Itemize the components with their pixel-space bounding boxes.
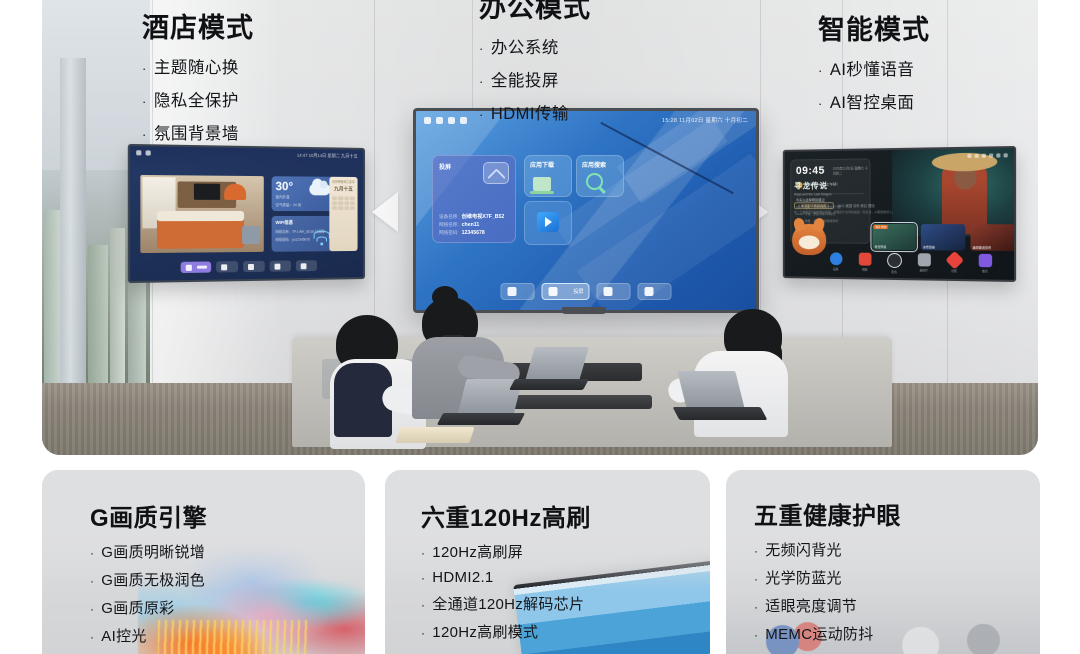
caption-hotel-mode: 酒店模式 ·主题随心换 ·隐私全保护 ·氛围背景墙: [142, 6, 254, 144]
wifi-card-title: WIFI信息: [276, 220, 332, 226]
hotel-status-time: 14:47 10月14日 星期二 九月十五: [297, 153, 358, 160]
hotel-status-icons: [136, 150, 151, 155]
weather-card[interactable]: 30° 室内外温 空气质量：24 优: [272, 176, 335, 211]
cast-connection-info: 设备名称: 创维电视X7F_B52 网络名称: chen11 网络密码: 123…: [439, 211, 504, 236]
hotel-mode-tv: 14:47 10月14日 星期二 九月十五 30° 室内外温 空气质量：24 优: [128, 144, 365, 283]
list-item-label: 光学防蓝光: [765, 567, 842, 588]
app-item[interactable]: 应用: [828, 252, 843, 273]
app-icon: [978, 254, 991, 267]
feature-card-title: 五重健康护眼: [754, 496, 1030, 531]
bullet-mark: ·: [754, 573, 758, 585]
bullet-mark: ·: [818, 97, 823, 110]
gear-icon: [448, 117, 455, 124]
input-source-icon: [604, 287, 613, 296]
office-nav-bar[interactable]: 投屏: [501, 283, 672, 300]
app-label: 应用: [828, 267, 843, 271]
app-label: 影音: [886, 270, 902, 274]
cast-icon: [483, 162, 509, 184]
feature-card-refresh-rate: 六重120Hz高刷 ·120Hz高刷屏 ·HDMI2.1 ·全通道120Hz解码…: [385, 470, 710, 654]
app-item[interactable]: 视频: [857, 253, 873, 274]
wifi-info-card[interactable]: WIFI信息 网络名称：TP-LINK_8D18 已连接 网络密码：yu1234…: [272, 216, 335, 252]
cast-device-value: 创维电视X7F_B52: [462, 213, 505, 220]
schedule-row: 18:00 / 晚餐，品鉴美味的健康食材: [796, 219, 865, 223]
app-item[interactable]: 我的片: [916, 253, 932, 274]
bullet-mark: ·: [90, 575, 94, 587]
movie-meta: 《 电视剧评情感细腻 》 2021 美国 动作 奇幻 冒险: [794, 202, 875, 209]
download-icon: [533, 177, 551, 191]
list-item-label: AI秒懂语音: [830, 56, 915, 80]
list-item: ·G画质原彩: [90, 597, 355, 618]
hotel-screen: 14:47 10月14日 星期二 九月十五 30° 室内外温 空气质量：24 优: [130, 146, 363, 281]
tile-app-download[interactable]: 应用下载: [524, 155, 572, 197]
bullet-mark: ·: [479, 108, 484, 121]
list-item-label: AI控光: [101, 625, 146, 646]
list-item-label: 无频闪背光: [765, 539, 842, 560]
product-feature-page: 14:47 10月14日 星期二 九月十五 30° 室内外温 空气质量：24 优: [0, 0, 1080, 654]
app-icon: [887, 253, 902, 268]
app-label: 视频: [857, 267, 873, 271]
laptop-base: [673, 407, 768, 420]
feature-card-content: 六重120Hz高刷 ·120Hz高刷屏 ·HDMI2.1 ·全通道120Hz解码…: [421, 498, 700, 642]
office-mode-tv: 15:28 11月02日 星期六 十月初二 投屏 设备名称: 创维电视X7F_B…: [413, 108, 759, 313]
list-item-label: HDMI2.1: [432, 569, 493, 586]
list-item-label: 120Hz高刷模式: [432, 621, 538, 642]
room-tv: [194, 184, 220, 200]
list-item-label: 隐私全保护: [154, 87, 239, 111]
list-item: ·光学防蓝光: [754, 567, 1030, 588]
list-item: ·适眼亮度调节: [754, 595, 1030, 616]
nav-hotel-settings[interactable]: [243, 261, 265, 272]
fox-face: [799, 235, 820, 249]
cast-icon: [982, 154, 986, 158]
bullet-mark: ·: [421, 599, 425, 611]
nav-hotel-music[interactable]: [270, 261, 291, 272]
cast-password-label: 网络密码:: [439, 230, 459, 236]
feature-card-row: G画质引擎 ·G画质明晰锐增 ·G画质无极润色 ·G画质原彩 ·AI控光 六重1…: [0, 470, 1080, 654]
bullet-mark: ·: [754, 629, 758, 641]
feature-bullet-list: ·无频闪背光 ·光学防蓝光 ·适眼亮度调节 ·MEMC运动防抖 ·护眼模式: [754, 539, 1030, 654]
list-item-label: 全通道120Hz解码芯片: [432, 593, 584, 614]
bullet-mark: ·: [421, 547, 425, 559]
gear-icon: [989, 154, 993, 158]
list-item: ·隐私全保护: [142, 87, 254, 111]
office-status-time: 15:28 11月02日 星期六 十月初二: [662, 116, 748, 124]
list-item-label: G画质无极润色: [101, 569, 205, 590]
wifi-icon: [136, 150, 141, 155]
weather-city: 室内外温: [276, 195, 332, 200]
subtitle-icon: [645, 287, 654, 296]
movie-thumbnail[interactable]: 冰雪奇缘: [921, 224, 966, 251]
roof-graphic: [130, 146, 363, 175]
list-item-label: MEMC运动防抖: [765, 623, 873, 644]
list-item: ·办公系统: [479, 34, 591, 58]
thumbnail-label: 冰雪奇缘: [923, 245, 935, 249]
nav-cast-button[interactable]: 投屏: [542, 283, 590, 300]
caption-smart-mode: 智能模式 ·AI秒懂语音 ·AI智控桌面: [818, 8, 930, 113]
office-status-icons: [424, 117, 467, 124]
cast-password-value: 12345678: [462, 230, 485, 236]
feature-bullet-list: ·G画质明晰锐增 ·G画质无极润色 ·G画质原彩 ·AI控光: [90, 541, 355, 646]
app-icon: [945, 251, 964, 270]
cloud-icon: [309, 183, 330, 195]
gear-icon: [146, 150, 151, 155]
thumbnail-label: 寻龙传说: [874, 245, 886, 249]
office-screen: 15:28 11月02日 星期六 十月初二 投屏 设备名称: 创维电视X7F_B…: [416, 111, 756, 310]
list-item-label: AI智控桌面: [830, 89, 915, 113]
weather-air-quality: 空气质量：24 优: [276, 203, 332, 208]
app-item[interactable]: 社区: [946, 253, 962, 275]
list-item: ·AI智控桌面: [818, 89, 930, 113]
tile-app-download-label: 应用下载: [530, 160, 554, 169]
nav-hotel-home[interactable]: [181, 261, 211, 273]
list-item: ·G画质无极润色: [90, 569, 355, 590]
app-icon: [858, 253, 871, 266]
list-item-label: 120Hz高刷屏: [432, 541, 523, 562]
list-item: ·AI秒懂语音: [818, 56, 930, 80]
feature-card-eye-care: 五重健康护眼 ·无频闪背光 ·光学防蓝光 ·适眼亮度调节 ·MEMC运动防抖 ·…: [726, 470, 1040, 654]
bullet-mark: ·: [421, 572, 425, 584]
fox-mascot-icon: [792, 224, 826, 256]
movie-description: 在一个被恶灵分裂的奇幻世界，勇敢的少女寻找最后一条巨龙，以期拯救世人。: [794, 210, 900, 215]
wifi-icon: [314, 235, 329, 246]
nav-hotel-apps[interactable]: [296, 260, 317, 271]
movie-meta-text: 2021 美国 动作 奇幻 冒险: [837, 203, 874, 208]
list-item: ·120Hz高刷屏: [421, 541, 700, 562]
smart-status-icons: [967, 153, 1007, 158]
list-item-label: 办公系统: [491, 34, 559, 58]
bluetooth-icon: [424, 117, 431, 124]
list-item: ·HDMI2.1: [421, 569, 700, 586]
list-item-label: G画质明晰锐增: [101, 541, 205, 562]
wifi-icon: [436, 117, 443, 124]
lamp-icon: [224, 184, 246, 200]
smart-app-dock[interactable]: 应用 视频 影音 我的片 社区 教育: [828, 252, 993, 275]
wifi-icon: [996, 153, 1000, 157]
hotel-room-photo: [140, 175, 263, 253]
movie-tag: 《 电视剧评情感细腻 》: [794, 202, 834, 209]
app-label: 教育: [977, 269, 994, 273]
bullet-mark: ·: [818, 64, 823, 77]
bullet-mark: ·: [754, 601, 758, 613]
laptop: [676, 371, 770, 421]
list-item-label: 全能投屏: [491, 67, 559, 91]
laptop-base: [437, 413, 525, 425]
movie-thumbnail-row[interactable]: 独家 热映 寻龙传说 冰雪奇缘 美丽童话世界: [872, 224, 1016, 251]
list-item-label: G画质原彩: [101, 597, 174, 618]
movie-subtitle: Raya and the Last Dragon: [794, 192, 831, 196]
movie-title: 寻龙传说: [794, 181, 828, 192]
laptop-lid: [677, 371, 744, 409]
movie-thumbnail[interactable]: 美丽童话世界: [970, 224, 1016, 251]
cast-wifi-label: 网络名称:: [439, 222, 459, 228]
list-item-label: 适眼亮度调节: [765, 595, 857, 616]
cast-icon: [549, 287, 558, 296]
feature-card-title: 六重120Hz高刷: [421, 498, 700, 533]
caption-title: 办公模式: [479, 0, 591, 25]
laptop-base: [509, 379, 589, 390]
tile-tv-app[interactable]: [524, 201, 572, 245]
thumbnail-badge: 独家 热映: [873, 225, 888, 229]
app-item[interactable]: 教育: [977, 254, 994, 276]
feature-card-title: G画质引擎: [90, 498, 355, 533]
app-item[interactable]: 影音: [886, 253, 902, 274]
bullet-mark: ·: [90, 631, 94, 643]
list-item: ·氛围背景墙: [142, 120, 254, 144]
laptop: [512, 347, 590, 391]
calendar-card[interactable]: 农历甲辰年乙亥月 九月十五: [329, 177, 357, 251]
nav-subtitle-button[interactable]: [638, 283, 672, 300]
calendar-lunar-date: 九月十五: [332, 186, 355, 193]
bed: [157, 218, 244, 249]
tile-app-search-label: 应用搜索: [582, 160, 606, 169]
laptop-lid: [525, 347, 589, 381]
bullet-mark: ·: [421, 627, 425, 639]
bullet-mark: ·: [479, 42, 484, 55]
movie-thumbnail[interactable]: 独家 热映 寻龙传说: [872, 224, 915, 250]
list-item: ·120Hz高刷模式: [421, 621, 700, 642]
caption-title: 酒店模式: [142, 6, 254, 45]
user-icon: [967, 154, 971, 158]
calendar-grid: [332, 196, 355, 210]
list-item: ·MEMC运动防抖: [754, 623, 1030, 644]
bluetooth-icon: [1004, 153, 1008, 157]
search-icon: [586, 173, 603, 190]
notification-icon: [460, 117, 467, 124]
feature-card-picture-engine: G画质引擎 ·G画质明晰锐增 ·G画质无极润色 ·G画质原彩 ·AI控光: [42, 470, 365, 654]
hero-panel: 14:47 10月14日 星期二 九月十五 30° 室内外温 空气质量：24 优: [42, 0, 1038, 455]
app-icon: [829, 252, 841, 265]
app-label: 我的片: [916, 268, 932, 272]
thumbnail-label: 美丽童话世界: [973, 246, 992, 250]
home-icon: [508, 287, 517, 296]
smart-mode-tv: 09:45 2025年11月2日 星期六 十月初二 早间的 Alexa 上午好！…: [783, 146, 1016, 282]
list-item: ·无频闪背光: [754, 539, 1030, 560]
list-item: ·HDMI传输: [479, 100, 591, 124]
list-item: ·全通道120Hz解码芯片: [421, 593, 700, 614]
list-item: ·AI控光: [90, 625, 355, 646]
caption-bullet-list: ·主题随心换 ·隐私全保护 ·氛围背景墙: [142, 54, 254, 144]
feature-card-content: G画质引擎 ·G画质明晰锐增 ·G画质无极润色 ·G画质原彩 ·AI控光: [90, 498, 355, 646]
list-item-label: HDMI传输: [491, 100, 569, 124]
bullet-mark: ·: [479, 75, 484, 88]
cast-wifi-value: chen11: [462, 222, 480, 228]
feature-card-content: 五重健康护眼 ·无频闪背光 ·光学防蓝光 ·适眼亮度调节 ·MEMC运动防抖 ·…: [754, 496, 1030, 654]
tv-stand: [562, 307, 606, 314]
list-item: ·全能投屏: [479, 67, 591, 91]
caption-title: 智能模式: [818, 8, 930, 47]
nav-cast-label: 投屏: [573, 288, 583, 295]
screen-cast-card[interactable]: 投屏 设备名称: 创维电视X7F_B52 网络名称: chen11 网络密码:: [432, 155, 516, 243]
nav-hotel-service[interactable]: [216, 261, 238, 272]
nav-input-source-button[interactable]: [597, 283, 631, 300]
hotel-nav-bar[interactable]: [181, 260, 317, 273]
bullet-mark: ·: [142, 128, 147, 141]
tile-app-search[interactable]: 应用搜索: [576, 155, 624, 197]
feature-bullet-list: ·120Hz高刷屏 ·HDMI2.1 ·全通道120Hz解码芯片 ·120Hz高…: [421, 541, 700, 642]
calendar-header: 农历甲辰年乙亥月: [332, 180, 355, 184]
nightstand: [242, 226, 260, 244]
caption-bullet-list: ·AI秒懂语音 ·AI智控桌面: [818, 56, 930, 113]
app-label: 社区: [946, 269, 962, 273]
list-item: ·主题随心换: [142, 54, 254, 78]
bullet-mark: ·: [142, 95, 147, 108]
list-item: ·G画质明晰锐增: [90, 541, 355, 562]
list-item-label: 氛围背景墙: [154, 120, 239, 144]
notebook: [395, 427, 474, 443]
cast-device-label: 设备名称:: [439, 214, 459, 220]
app-icon: [917, 253, 930, 266]
bullet-mark: ·: [754, 545, 758, 557]
caption-office-mode: 办公模式 ·办公系统 ·全能投屏 ·HDMI传输: [479, 0, 591, 124]
bullet-mark: ·: [90, 547, 94, 559]
arrow-left-icon: [372, 192, 398, 232]
bullet-mark: ·: [142, 62, 147, 75]
bullet-mark: ·: [90, 603, 94, 615]
tv-play-icon: [537, 212, 559, 232]
list-item-label: 主题随心换: [154, 54, 239, 78]
caption-bullet-list: ·办公系统 ·全能投屏 ·HDMI传输: [479, 34, 591, 124]
smart-screen: 09:45 2025年11月2日 星期六 十月初二 早间的 Alexa 上午好！…: [785, 148, 1014, 280]
search-icon: [975, 154, 979, 158]
clock-date: 2025年11月2日 星期六 十月初二: [833, 166, 870, 176]
